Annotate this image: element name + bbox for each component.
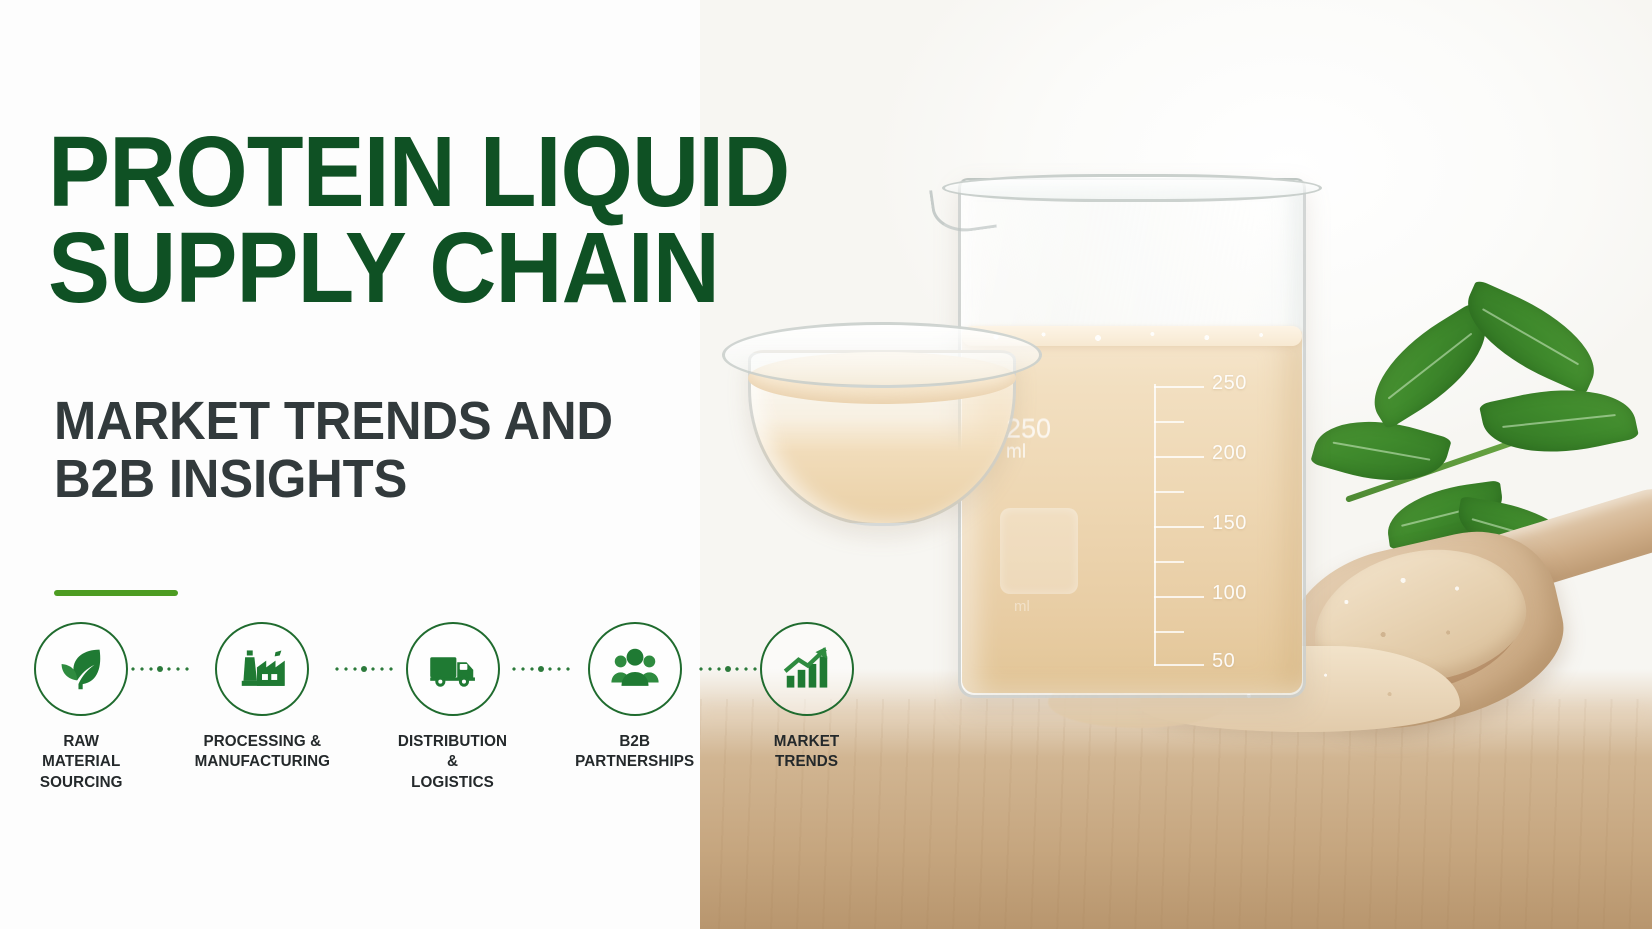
step-label: RAW MATERIAL SOURCING [36, 732, 126, 793]
step-label: MARKET TRENDS [774, 732, 840, 773]
step-raw-material-sourcing[interactable]: RAW MATERIAL SOURCING [34, 622, 129, 793]
step-b2b-partnerships[interactable]: B2B PARTNERSHIPS [572, 622, 697, 773]
scale-tick-major [1154, 526, 1204, 528]
step-icon-circle[interactable] [34, 622, 128, 716]
scale-tick-major [1154, 386, 1204, 388]
step-connector [697, 622, 759, 716]
step-icon-circle[interactable] [760, 622, 854, 716]
step-processing-manufacturing[interactable]: PROCESSING & MANUFACTURING [191, 622, 334, 773]
step-connector [333, 622, 395, 716]
factory-icon [235, 642, 289, 696]
scale-tick-minor [1154, 491, 1184, 493]
beaker-graduation-scale: 250 200 150 100 50 [1154, 384, 1274, 666]
leaf-icon [54, 642, 108, 696]
connector-center-dot [157, 666, 163, 672]
scale-tick-minor [1154, 421, 1184, 423]
connector-center-dot [361, 666, 367, 672]
step-connector [129, 622, 191, 716]
banner-root: 250 ml ml 250 200 150 100 50 [0, 0, 1652, 929]
step-distribution-logistics[interactable]: DISTRIBUTION & LOGISTICS [395, 622, 510, 793]
step-label: PROCESSING & MANUFACTURING [194, 732, 329, 773]
scale-axis-line [1154, 384, 1156, 666]
step-icon-circle[interactable] [215, 622, 309, 716]
scale-tick-label: 250 [1212, 372, 1247, 395]
scale-tick-major [1154, 664, 1204, 666]
wooden-scoop [1260, 508, 1652, 758]
page-subtitle: MARKET TRENDS AND B2B INSIGHTS [54, 392, 806, 509]
beaker-base-mark: ml [1014, 598, 1030, 615]
step-icon-circle[interactable] [588, 622, 682, 716]
scale-tick-label: 100 [1212, 582, 1247, 605]
scale-tick-label: 50 [1212, 650, 1235, 673]
page-title: PROTEIN LIQUID SUPPLY CHAIN [48, 124, 866, 316]
scale-tick-major [1154, 596, 1204, 598]
scale-tick-label: 150 [1212, 512, 1247, 535]
step-market-trends[interactable]: MARKET TRENDS [759, 622, 854, 773]
step-label: DISTRIBUTION & LOGISTICS [398, 732, 507, 793]
scale-tick-minor [1154, 561, 1184, 563]
people-group-icon [608, 642, 662, 696]
truck-icon [426, 642, 480, 696]
scale-tick-minor [1154, 631, 1184, 633]
leaf-icon [1479, 373, 1639, 469]
content-column: PROTEIN LIQUID SUPPLY CHAIN MARKET TREND… [0, 0, 920, 929]
step-icon-circle[interactable] [406, 622, 500, 716]
scale-tick-major [1154, 456, 1204, 458]
step-connector [510, 622, 572, 716]
growth-chart-icon [780, 642, 834, 696]
connector-center-dot [725, 666, 731, 672]
beaker-rim [942, 174, 1322, 202]
scale-tick-label: 200 [1212, 442, 1247, 465]
step-label: B2B PARTNERSHIPS [575, 732, 694, 773]
connector-center-dot [538, 666, 544, 672]
accent-divider [54, 590, 178, 596]
supply-chain-steps: RAW MATERIAL SOURCING [34, 622, 854, 822]
